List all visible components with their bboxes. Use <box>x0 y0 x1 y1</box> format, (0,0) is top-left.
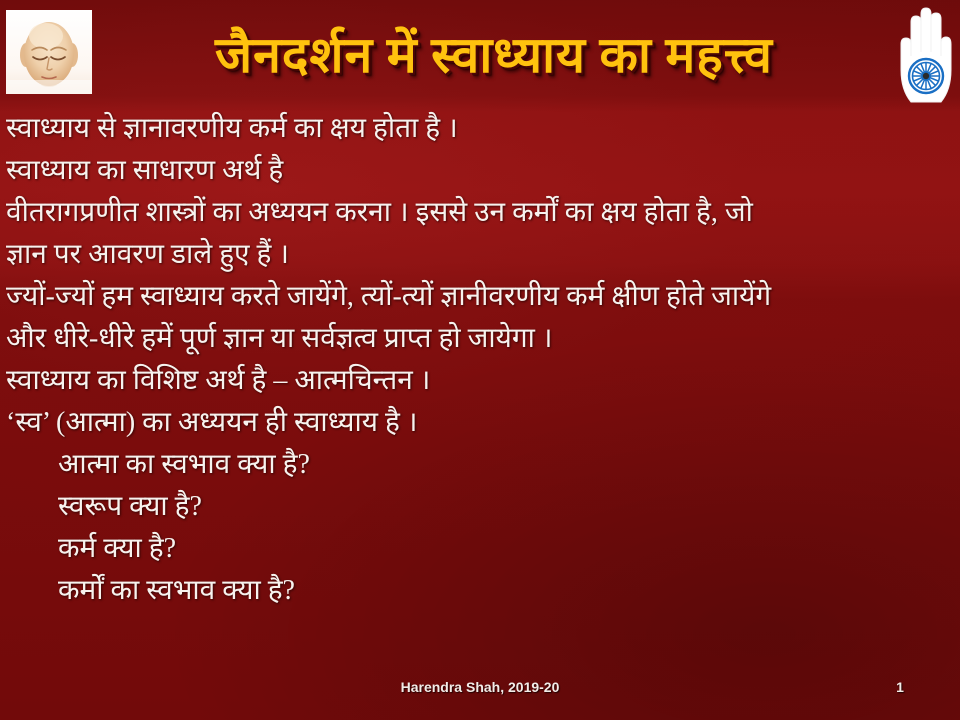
slide-body: स्वाध्याय से ज्ञानावरणीय कर्म का क्षय हो… <box>0 108 960 612</box>
body-line: ज्ञान पर आवरण डाले हुए हैं । <box>6 234 954 276</box>
slide-page-number: 1 <box>880 679 920 695</box>
footer-author-credit: Harendra Shah, 2019-20 <box>0 679 960 695</box>
body-line: वीतरागप्रणीत शास्त्रों का अध्ययन करना । … <box>6 192 954 234</box>
page-title: जैनदर्शन में स्वाध्याय का महत्त्व <box>104 6 884 100</box>
body-line: स्वाध्याय का साधारण अर्थ है <box>6 150 954 192</box>
jain-ahimsa-hand-icon <box>893 4 957 104</box>
slide-header: जैनदर्शन में स्वाध्याय का महत्त्व <box>0 0 960 104</box>
body-line-question: आत्मा का स्वभाव क्या है? <box>6 444 954 486</box>
body-line: ‘स्व’ (आत्मा) का अध्ययन ही स्वाध्याय है … <box>6 402 954 444</box>
tirthankara-face-thumbnail <box>6 10 92 94</box>
body-line: और धीरे-धीरे हमें पूर्ण ज्ञान या सर्वज्ञ… <box>6 318 954 360</box>
body-line-question: कर्म क्या है? <box>6 528 954 570</box>
presentation-slide: जैनदर्शन में स्वाध्याय का महत्त्व <box>0 0 960 720</box>
body-line-question: कर्मों का स्वभाव क्या है? <box>6 570 954 612</box>
body-line: स्वाध्याय का विशिष्ट अर्थ है – आत्मचिन्त… <box>6 360 954 402</box>
body-line: स्वाध्याय से ज्ञानावरणीय कर्म का क्षय हो… <box>6 108 954 150</box>
body-line: ज्यों-ज्यों हम स्वाध्याय करते जायेंगे, त… <box>6 276 954 318</box>
body-line-question: स्वरूप क्या है? <box>6 486 954 528</box>
